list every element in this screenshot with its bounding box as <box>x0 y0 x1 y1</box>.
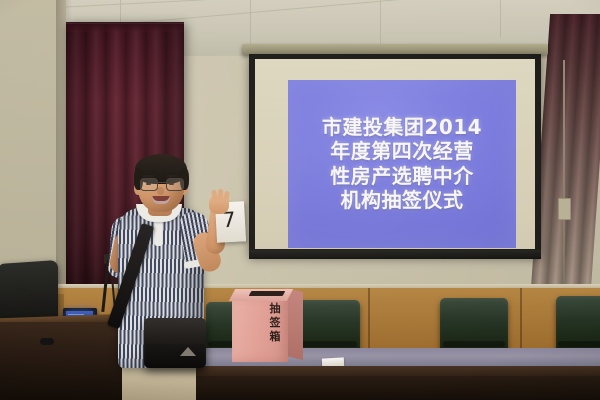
slide-line-4: 机构抽签仪式 <box>341 190 464 211</box>
lottery-box-label: 抽 签 箱 <box>264 302 286 343</box>
lottery-box-label-char-1: 抽 <box>264 302 286 316</box>
eyeglasses-lens-right <box>166 178 184 191</box>
projection-screen-weight-bar <box>249 250 541 259</box>
messenger-bag-flap <box>144 318 206 344</box>
presenter-nose <box>157 187 164 195</box>
presenter-finger <box>218 189 223 201</box>
computer-mouse <box>40 338 54 345</box>
wall-outlet-plate <box>558 198 571 220</box>
wall-cable <box>563 60 565 292</box>
lottery-box-label-char-3: 箱 <box>264 330 286 344</box>
presenter: 7 <box>96 160 256 400</box>
bag-triangle-logo-icon <box>180 347 196 356</box>
lottery-box-label-char-2: 签 <box>264 316 286 330</box>
photo-scene: 市建投集团2014 年度第四次经营 性房产选聘中介 机构抽签仪式 抽 签 箱 <box>0 0 600 400</box>
slide-line-2: 年度第四次经营 <box>330 141 474 162</box>
presenter-eyebrow <box>143 175 154 177</box>
slide-line-1: 市建投集团2014 <box>322 117 482 138</box>
wainscot-seam <box>520 288 522 350</box>
presenter-eyebrow <box>166 175 177 177</box>
conference-chair <box>556 296 600 352</box>
presenter-finger <box>211 190 217 202</box>
eyeglasses-lens-left <box>140 178 158 191</box>
presentation-slide: 市建投集团2014 年度第四次经营 性房产选聘中介 机构抽签仪式 <box>288 80 516 248</box>
lottery-box-side <box>286 288 303 360</box>
slide-line-3: 性房产选聘中介 <box>330 166 474 187</box>
wainscot-seam <box>368 288 370 350</box>
curtain-rail <box>66 22 184 32</box>
conference-chair <box>440 298 508 352</box>
